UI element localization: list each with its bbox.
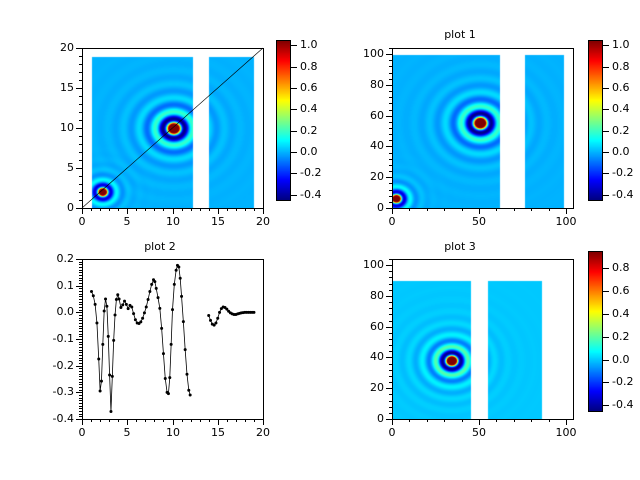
y-tick-minor bbox=[389, 103, 392, 104]
x-tick-minor bbox=[200, 419, 201, 422]
y-tick-minor bbox=[389, 265, 392, 266]
y-tick-minor bbox=[389, 196, 392, 197]
colorbar-gradient-bottom-right bbox=[589, 252, 602, 411]
y-tick-minor bbox=[79, 48, 82, 49]
x-tick-label: 100 bbox=[546, 427, 586, 438]
colorbar-tick bbox=[603, 109, 609, 110]
y-tick-minor bbox=[79, 280, 82, 281]
x-tick-minor bbox=[479, 208, 480, 211]
x-tick-minor bbox=[409, 208, 410, 211]
y-tick-minor bbox=[79, 416, 82, 417]
colorbar-tick-label: 0.6 bbox=[300, 82, 318, 93]
data-point-marker bbox=[141, 317, 144, 320]
colorbar-tick bbox=[603, 268, 609, 269]
colorbar-gradient-top-right bbox=[589, 41, 602, 200]
heatmap-image-top-right bbox=[393, 49, 573, 208]
y-tick-minor bbox=[79, 344, 82, 345]
x-tick-minor bbox=[191, 419, 192, 422]
x-tick-minor bbox=[200, 208, 201, 211]
y-tick-minor bbox=[389, 401, 392, 402]
x-tick-minor bbox=[82, 419, 83, 422]
data-point-marker bbox=[99, 390, 102, 393]
x-tick-minor bbox=[427, 208, 428, 211]
y-tick-minor bbox=[389, 271, 392, 272]
x-tick-minor bbox=[82, 208, 83, 211]
x-tick-minor bbox=[118, 419, 119, 422]
y-tick-minor bbox=[79, 200, 82, 201]
y-tick-minor bbox=[389, 190, 392, 191]
y-tick-minor bbox=[79, 184, 82, 185]
y-tick-minor bbox=[389, 177, 392, 178]
x-tick-label: 10 bbox=[153, 427, 193, 438]
data-point-marker bbox=[95, 322, 98, 325]
y-tick-minor bbox=[389, 91, 392, 92]
y-tick-minor bbox=[389, 333, 392, 334]
y-tick-minor bbox=[79, 275, 82, 276]
y-tick-minor bbox=[389, 73, 392, 74]
panel-bottom-left: plot 2 051015200.20.10.0-0.1-0.2-0.3-0.4 bbox=[0, 240, 320, 480]
y-tick-minor bbox=[389, 153, 392, 154]
y-tick-label: 20 bbox=[344, 382, 384, 393]
colorbar-tick-label: 0.6 bbox=[612, 82, 630, 93]
y-tick-minor bbox=[389, 202, 392, 203]
data-point-marker bbox=[145, 306, 148, 309]
data-point-marker bbox=[216, 317, 219, 320]
y-tick-label: 0.0 bbox=[34, 306, 74, 317]
x-tick-minor bbox=[263, 419, 264, 422]
colorbar-tick bbox=[291, 88, 297, 89]
y-tick-minor bbox=[389, 110, 392, 111]
x-tick-minor bbox=[163, 419, 164, 422]
y-tick-minor bbox=[79, 283, 82, 284]
colorbar-tick-label: -0.4 bbox=[612, 399, 633, 410]
x-tick-minor bbox=[227, 419, 228, 422]
figure-canvas: 0510152005101520 1.00.80.60.40.20.0-0.2-… bbox=[0, 0, 640, 480]
colorbar-tick-label: 0.0 bbox=[612, 146, 630, 157]
y-tick-minor bbox=[389, 48, 392, 49]
y-tick-label: -0.3 bbox=[34, 386, 74, 397]
y-tick-minor bbox=[79, 272, 82, 273]
y-tick-minor bbox=[389, 321, 392, 322]
y-tick-minor bbox=[79, 264, 82, 265]
y-tick-minor bbox=[389, 171, 392, 172]
data-point-marker bbox=[214, 322, 217, 325]
y-tick-minor bbox=[79, 88, 82, 89]
x-tick-minor bbox=[479, 419, 480, 422]
data-point-marker bbox=[123, 300, 126, 303]
y-tick-minor bbox=[79, 336, 82, 337]
y-tick-minor bbox=[79, 208, 82, 209]
colorbar-tick bbox=[291, 131, 297, 132]
data-point-marker bbox=[97, 358, 100, 361]
y-tick-minor bbox=[79, 408, 82, 409]
data-point-marker bbox=[127, 307, 130, 310]
x-tick-minor bbox=[245, 208, 246, 211]
x-tick-minor bbox=[118, 208, 119, 211]
y-tick-minor bbox=[79, 368, 82, 369]
data-point-marker bbox=[187, 389, 190, 392]
y-tick-minor bbox=[389, 60, 392, 61]
x-tick-minor bbox=[531, 208, 532, 211]
y-tick-minor bbox=[389, 339, 392, 340]
colorbar-tick-label: 0.0 bbox=[612, 354, 630, 365]
y-tick-minor bbox=[79, 358, 82, 359]
x-tick-minor bbox=[227, 208, 228, 211]
heatmap-image-top-left bbox=[83, 49, 263, 208]
data-point-marker bbox=[180, 295, 183, 298]
data-point-marker bbox=[148, 290, 151, 293]
data-point-marker bbox=[189, 394, 192, 397]
colorbar-tick-label: 0.6 bbox=[612, 285, 630, 296]
colorbar-tick-label: 0.2 bbox=[300, 125, 318, 136]
data-point-marker bbox=[155, 287, 158, 290]
data-point-marker bbox=[207, 314, 210, 317]
y-tick-minor bbox=[79, 328, 82, 329]
y-tick-minor bbox=[389, 128, 392, 129]
colorbar-tick bbox=[603, 382, 609, 383]
y-tick-minor bbox=[79, 144, 82, 145]
x-tick-minor bbox=[444, 419, 445, 422]
colorbar-tick bbox=[291, 109, 297, 110]
y-tick-minor bbox=[79, 363, 82, 364]
x-tick-minor bbox=[145, 419, 146, 422]
y-tick-minor bbox=[79, 411, 82, 412]
colorbar-tick bbox=[603, 152, 609, 153]
y-tick-minor bbox=[79, 360, 82, 361]
y-tick-minor bbox=[79, 128, 82, 129]
y-tick-minor bbox=[389, 277, 392, 278]
y-tick-minor bbox=[389, 345, 392, 346]
x-tick-minor bbox=[91, 419, 92, 422]
y-tick-minor bbox=[389, 413, 392, 414]
colorbar-tick-label: 0.8 bbox=[612, 262, 630, 273]
y-tick-minor bbox=[389, 54, 392, 55]
y-tick-minor bbox=[389, 165, 392, 166]
y-tick-minor bbox=[389, 85, 392, 86]
y-tick-minor bbox=[389, 370, 392, 371]
x-tick-label: 50 bbox=[459, 216, 499, 227]
x-tick-minor bbox=[566, 419, 567, 422]
data-point-marker bbox=[132, 312, 135, 315]
y-tick-label: 0 bbox=[344, 413, 384, 424]
data-point-marker bbox=[179, 277, 182, 280]
y-tick-minor bbox=[389, 419, 392, 420]
y-tick-minor bbox=[79, 56, 82, 57]
data-point-marker bbox=[143, 311, 146, 314]
y-tick-label: 0.2 bbox=[34, 253, 74, 264]
x-tick-label: 15 bbox=[198, 216, 238, 227]
x-tick-minor bbox=[191, 208, 192, 211]
y-tick-minor bbox=[79, 64, 82, 65]
x-tick-minor bbox=[209, 419, 210, 422]
data-point-marker bbox=[90, 290, 93, 293]
x-tick-label: 100 bbox=[546, 216, 586, 227]
y-tick-minor bbox=[79, 312, 82, 313]
y-tick-label: 0.1 bbox=[34, 280, 74, 291]
data-point-marker bbox=[103, 310, 106, 313]
colorbar-tick bbox=[603, 173, 609, 174]
y-tick-minor bbox=[79, 80, 82, 81]
y-tick-minor bbox=[79, 267, 82, 268]
x-tick-minor bbox=[496, 208, 497, 211]
y-tick-minor bbox=[389, 146, 392, 147]
y-tick-minor bbox=[79, 262, 82, 263]
colorbar-tick bbox=[291, 45, 297, 46]
y-tick-minor bbox=[79, 384, 82, 385]
colorbar-tick bbox=[291, 152, 297, 153]
colorbar-tick-label: -0.4 bbox=[300, 189, 321, 200]
y-tick-minor bbox=[389, 302, 392, 303]
y-tick-minor bbox=[79, 379, 82, 380]
panel-top-right: plot 1 050100020406080100 1.00.80.60.40.… bbox=[320, 0, 640, 240]
y-tick-minor bbox=[79, 395, 82, 396]
y-tick-label: 100 bbox=[344, 259, 384, 270]
y-tick-minor bbox=[79, 112, 82, 113]
y-tick-minor bbox=[389, 290, 392, 291]
data-point-marker bbox=[160, 327, 163, 330]
y-tick-minor bbox=[79, 398, 82, 399]
data-point-marker bbox=[171, 308, 174, 311]
colorbar-tick-label: 0.0 bbox=[300, 146, 318, 157]
data-point-marker bbox=[150, 283, 153, 286]
data-point-marker bbox=[116, 293, 119, 296]
colorbar-tick-label: 1.0 bbox=[612, 39, 630, 50]
y-tick-minor bbox=[79, 291, 82, 292]
x-tick-minor bbox=[514, 419, 515, 422]
y-tick-minor bbox=[389, 382, 392, 383]
x-tick-minor bbox=[236, 208, 237, 211]
y-tick-minor bbox=[79, 278, 82, 279]
y-tick-minor bbox=[79, 376, 82, 377]
x-tick-minor bbox=[392, 419, 393, 422]
panel-bottom-right: plot 3 050100020406080100 0.80.60.40.20.… bbox=[320, 240, 640, 480]
x-tick-minor bbox=[109, 419, 110, 422]
y-tick-minor bbox=[389, 351, 392, 352]
x-tick-minor bbox=[100, 419, 101, 422]
data-point-marker bbox=[130, 306, 133, 309]
colorbar-tick bbox=[603, 360, 609, 361]
x-tick-label: 15 bbox=[198, 427, 238, 438]
data-point-marker bbox=[147, 298, 150, 301]
y-tick-label: 60 bbox=[344, 110, 384, 121]
x-tick-label: 50 bbox=[459, 427, 499, 438]
y-tick-minor bbox=[79, 347, 82, 348]
data-point-marker bbox=[170, 343, 173, 346]
y-tick-minor bbox=[79, 414, 82, 415]
y-tick-minor bbox=[79, 192, 82, 193]
x-tick-minor bbox=[173, 419, 174, 422]
data-point-marker bbox=[167, 392, 170, 395]
data-point-marker bbox=[94, 303, 97, 306]
y-tick-minor bbox=[79, 419, 82, 420]
data-point-marker bbox=[182, 320, 185, 323]
y-tick-minor bbox=[79, 390, 82, 391]
data-point-marker bbox=[121, 303, 124, 306]
colorbar-tick bbox=[603, 131, 609, 132]
y-tick-minor bbox=[79, 299, 82, 300]
colorbar-tick-label: 0.2 bbox=[612, 331, 630, 342]
data-point-marker bbox=[158, 307, 161, 310]
data-point-marker bbox=[173, 283, 176, 286]
data-point-marker bbox=[118, 298, 121, 301]
y-tick-minor bbox=[79, 296, 82, 297]
y-tick-minor bbox=[389, 66, 392, 67]
x-tick-minor bbox=[91, 208, 92, 211]
colorbar-tick bbox=[603, 45, 609, 46]
colorbar-tick bbox=[603, 88, 609, 89]
y-tick-minor bbox=[79, 176, 82, 177]
y-tick-minor bbox=[79, 355, 82, 356]
x-tick-minor bbox=[427, 419, 428, 422]
colorbar-tick-label: 0.2 bbox=[612, 125, 630, 136]
y-tick-minor bbox=[79, 382, 82, 383]
y-tick-minor bbox=[79, 72, 82, 73]
x-tick-label: 10 bbox=[153, 216, 193, 227]
y-tick-minor bbox=[79, 392, 82, 393]
data-point-marker bbox=[125, 303, 128, 306]
y-tick-label: -0.1 bbox=[34, 333, 74, 344]
x-tick-minor bbox=[566, 208, 567, 211]
y-tick-label: 80 bbox=[344, 290, 384, 301]
colorbar-tick bbox=[603, 67, 609, 68]
y-tick-minor bbox=[389, 376, 392, 377]
panel-title-plot-1: plot 1 bbox=[300, 28, 620, 41]
x-tick-label: 0 bbox=[372, 427, 412, 438]
data-point-marker bbox=[164, 377, 167, 380]
y-tick-minor bbox=[389, 364, 392, 365]
y-tick-label: 0 bbox=[344, 202, 384, 213]
y-tick-label: 40 bbox=[344, 351, 384, 362]
data-point-marker bbox=[184, 348, 187, 351]
x-tick-minor bbox=[218, 208, 219, 211]
y-tick-minor bbox=[79, 302, 82, 303]
x-tick-minor bbox=[136, 208, 137, 211]
y-tick-minor bbox=[389, 97, 392, 98]
data-point-marker bbox=[108, 374, 111, 377]
data-point-marker bbox=[218, 311, 221, 314]
colorbar-tick bbox=[603, 314, 609, 315]
y-tick-minor bbox=[389, 134, 392, 135]
x-tick-minor bbox=[462, 419, 463, 422]
colorbar-tick-label: -0.2 bbox=[300, 167, 321, 178]
y-tick-minor bbox=[79, 350, 82, 351]
y-tick-minor bbox=[79, 152, 82, 153]
data-point-marker bbox=[109, 410, 112, 413]
y-tick-minor bbox=[389, 159, 392, 160]
data-point-marker bbox=[162, 352, 165, 355]
x-tick-label: 5 bbox=[107, 216, 147, 227]
y-tick-minor bbox=[79, 104, 82, 105]
y-tick-label: 20 bbox=[344, 171, 384, 182]
y-tick-minor bbox=[79, 371, 82, 372]
y-tick-minor bbox=[389, 122, 392, 123]
panel-top-left: 0510152005101520 1.00.80.60.40.20.0-0.2-… bbox=[0, 0, 320, 240]
data-point-marker bbox=[101, 343, 104, 346]
y-tick-minor bbox=[79, 288, 82, 289]
y-tick-label: 60 bbox=[344, 321, 384, 332]
data-point-marker bbox=[100, 380, 103, 383]
y-tick-minor bbox=[79, 406, 82, 407]
data-point-marker bbox=[114, 314, 117, 317]
x-tick-minor bbox=[514, 208, 515, 211]
y-tick-label: 5 bbox=[34, 162, 74, 173]
data-point-marker bbox=[209, 319, 212, 322]
y-tick-minor bbox=[389, 79, 392, 80]
colorbar-tick bbox=[603, 405, 609, 406]
data-point-marker bbox=[92, 294, 95, 297]
heatmap-image-bottom-right bbox=[393, 260, 573, 419]
x-tick-minor bbox=[209, 208, 210, 211]
y-tick-minor bbox=[79, 294, 82, 295]
y-tick-minor bbox=[79, 120, 82, 121]
y-tick-minor bbox=[79, 307, 82, 308]
y-tick-minor bbox=[389, 183, 392, 184]
data-point-marker bbox=[153, 280, 156, 283]
y-tick-minor bbox=[389, 407, 392, 408]
data-point-marker bbox=[157, 296, 160, 299]
colorbar-tick-label: -0.2 bbox=[612, 167, 633, 178]
data-point-marker bbox=[175, 269, 178, 272]
y-tick-minor bbox=[79, 270, 82, 271]
x-tick-minor bbox=[549, 419, 550, 422]
x-tick-minor bbox=[549, 208, 550, 211]
data-point-marker bbox=[168, 376, 171, 379]
data-point-marker bbox=[115, 298, 118, 301]
y-tick-minor bbox=[79, 168, 82, 169]
x-tick-minor bbox=[392, 208, 393, 211]
y-tick-label: 20 bbox=[34, 42, 74, 53]
colorbar-tick bbox=[603, 291, 609, 292]
y-tick-minor bbox=[79, 315, 82, 316]
x-tick-minor bbox=[245, 419, 246, 422]
x-tick-minor bbox=[163, 208, 164, 211]
colorbar-tick-label: 0.8 bbox=[612, 61, 630, 72]
data-point-marker bbox=[112, 339, 115, 342]
y-tick-minor bbox=[79, 366, 82, 367]
x-tick-label: 5 bbox=[107, 427, 147, 438]
y-tick-minor bbox=[79, 136, 82, 137]
x-tick-minor bbox=[182, 208, 183, 211]
y-tick-minor bbox=[79, 334, 82, 335]
y-tick-minor bbox=[79, 387, 82, 388]
y-tick-label: -0.4 bbox=[34, 413, 74, 424]
y-tick-minor bbox=[389, 314, 392, 315]
y-tick-minor bbox=[389, 308, 392, 309]
colorbar-tick-label: 0.4 bbox=[612, 308, 630, 319]
y-tick-minor bbox=[79, 310, 82, 311]
y-tick-label: 15 bbox=[34, 82, 74, 93]
x-tick-minor bbox=[236, 419, 237, 422]
data-point-marker bbox=[111, 375, 114, 378]
colorbar-tick bbox=[291, 195, 297, 196]
data-point-marker bbox=[107, 335, 110, 338]
y-tick-minor bbox=[79, 342, 82, 343]
x-tick-label: 20 bbox=[243, 427, 283, 438]
y-tick-minor bbox=[79, 286, 82, 287]
y-tick-minor bbox=[389, 388, 392, 389]
colorbar-gradient-top-left bbox=[277, 41, 290, 200]
data-point-marker bbox=[104, 298, 107, 301]
x-tick-minor bbox=[254, 419, 255, 422]
data-point-marker bbox=[177, 266, 180, 269]
y-tick-minor bbox=[79, 339, 82, 340]
x-tick-minor bbox=[182, 419, 183, 422]
colorbar-tick-label: 0.4 bbox=[300, 103, 318, 114]
y-tick-minor bbox=[389, 259, 392, 260]
x-tick-minor bbox=[173, 208, 174, 211]
panel-title-plot-3: plot 3 bbox=[300, 240, 620, 253]
y-tick-minor bbox=[389, 327, 392, 328]
